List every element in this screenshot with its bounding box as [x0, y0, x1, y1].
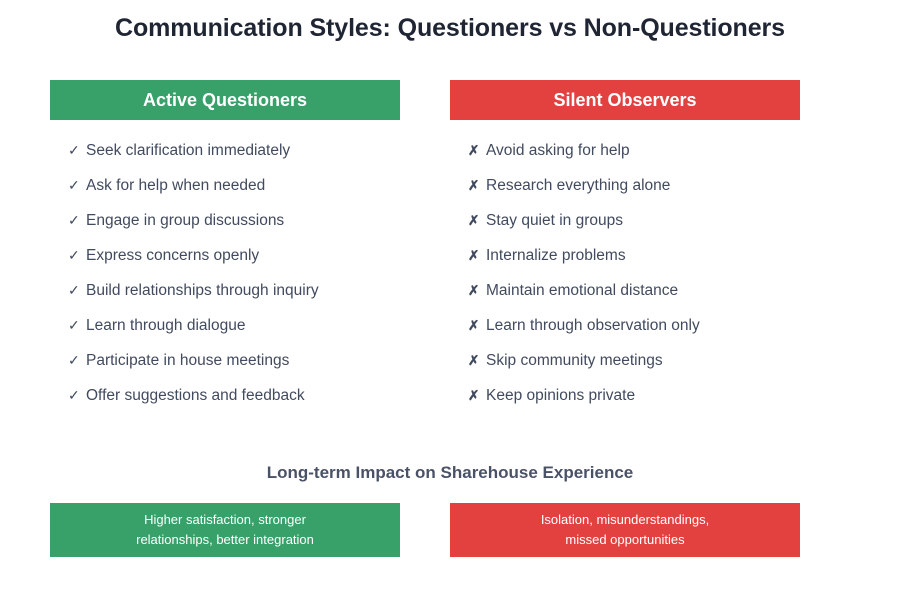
cross-icon: ✗: [468, 203, 486, 238]
page-title: Communication Styles: Questioners vs Non…: [0, 14, 900, 43]
column-header-silent-observers: Silent Observers: [450, 80, 800, 120]
list-item-label: Seek clarification immediately: [86, 142, 290, 159]
impact-section-title: Long-term Impact on Sharehouse Experienc…: [0, 463, 900, 483]
list-item: ✗Skip community meetings: [468, 343, 818, 378]
list-item-label: Skip community meetings: [486, 352, 663, 369]
list-item-label: Maintain emotional distance: [486, 282, 678, 299]
impact-box-line-1: Isolation, misunderstandings,: [541, 510, 709, 530]
list-item: ✗Keep opinions private: [468, 378, 818, 413]
list-item-label: Ask for help when needed: [86, 177, 265, 194]
list-item: ✓Build relationships through inquiry: [68, 273, 418, 308]
impact-box-positive: Higher satisfaction, stronger relationsh…: [50, 503, 400, 557]
cross-icon: ✗: [468, 308, 486, 343]
column-header-active-questioners: Active Questioners: [50, 80, 400, 120]
list-item: ✓Express concerns openly: [68, 238, 418, 273]
column-header-label: Active Questioners: [143, 90, 307, 111]
list-item-label: Offer suggestions and feedback: [86, 387, 305, 404]
check-icon: ✓: [68, 343, 86, 378]
cross-icon: ✗: [468, 378, 486, 413]
list-item-label: Learn through observation only: [486, 317, 700, 334]
list-item: ✗Stay quiet in groups: [468, 203, 818, 238]
list-active-questioners: ✓Seek clarification immediately ✓Ask for…: [68, 133, 418, 413]
column-header-label: Silent Observers: [553, 90, 696, 111]
list-item-label: Express concerns openly: [86, 247, 259, 264]
cross-icon: ✗: [468, 343, 486, 378]
check-icon: ✓: [68, 133, 86, 168]
list-item: ✓Ask for help when needed: [68, 168, 418, 203]
list-item: ✗Research everything alone: [468, 168, 818, 203]
check-icon: ✓: [68, 308, 86, 343]
check-icon: ✓: [68, 378, 86, 413]
list-item-label: Build relationships through inquiry: [86, 282, 319, 299]
list-item: ✗Maintain emotional distance: [468, 273, 818, 308]
impact-box-negative: Isolation, misunderstandings, missed opp…: [450, 503, 800, 557]
list-item-label: Stay quiet in groups: [486, 212, 623, 229]
cross-icon: ✗: [468, 133, 486, 168]
infographic-page: Communication Styles: Questioners vs Non…: [0, 0, 900, 600]
check-icon: ✓: [68, 273, 86, 308]
list-silent-observers: ✗Avoid asking for help ✗Research everyth…: [468, 133, 818, 413]
list-item-label: Keep opinions private: [486, 387, 635, 404]
list-item: ✗Learn through observation only: [468, 308, 818, 343]
impact-box-line-2: relationships, better integration: [136, 530, 314, 550]
impact-box-line-1: Higher satisfaction, stronger: [136, 510, 314, 530]
list-item: ✓Offer suggestions and feedback: [68, 378, 418, 413]
list-item-label: Avoid asking for help: [486, 142, 630, 159]
check-icon: ✓: [68, 168, 86, 203]
list-item-label: Research everything alone: [486, 177, 670, 194]
cross-icon: ✗: [468, 168, 486, 203]
list-item-label: Participate in house meetings: [86, 352, 289, 369]
list-item: ✓Engage in group discussions: [68, 203, 418, 238]
list-item-label: Engage in group discussions: [86, 212, 284, 229]
cross-icon: ✗: [468, 238, 486, 273]
cross-icon: ✗: [468, 273, 486, 308]
list-item: ✗Internalize problems: [468, 238, 818, 273]
list-item-label: Learn through dialogue: [86, 317, 245, 334]
list-item: ✓Seek clarification immediately: [68, 133, 418, 168]
check-icon: ✓: [68, 238, 86, 273]
list-item: ✗Avoid asking for help: [468, 133, 818, 168]
impact-box-line-2: missed opportunities: [541, 530, 709, 550]
check-icon: ✓: [68, 203, 86, 238]
list-item: ✓Learn through dialogue: [68, 308, 418, 343]
list-item: ✓Participate in house meetings: [68, 343, 418, 378]
list-item-label: Internalize problems: [486, 247, 626, 264]
